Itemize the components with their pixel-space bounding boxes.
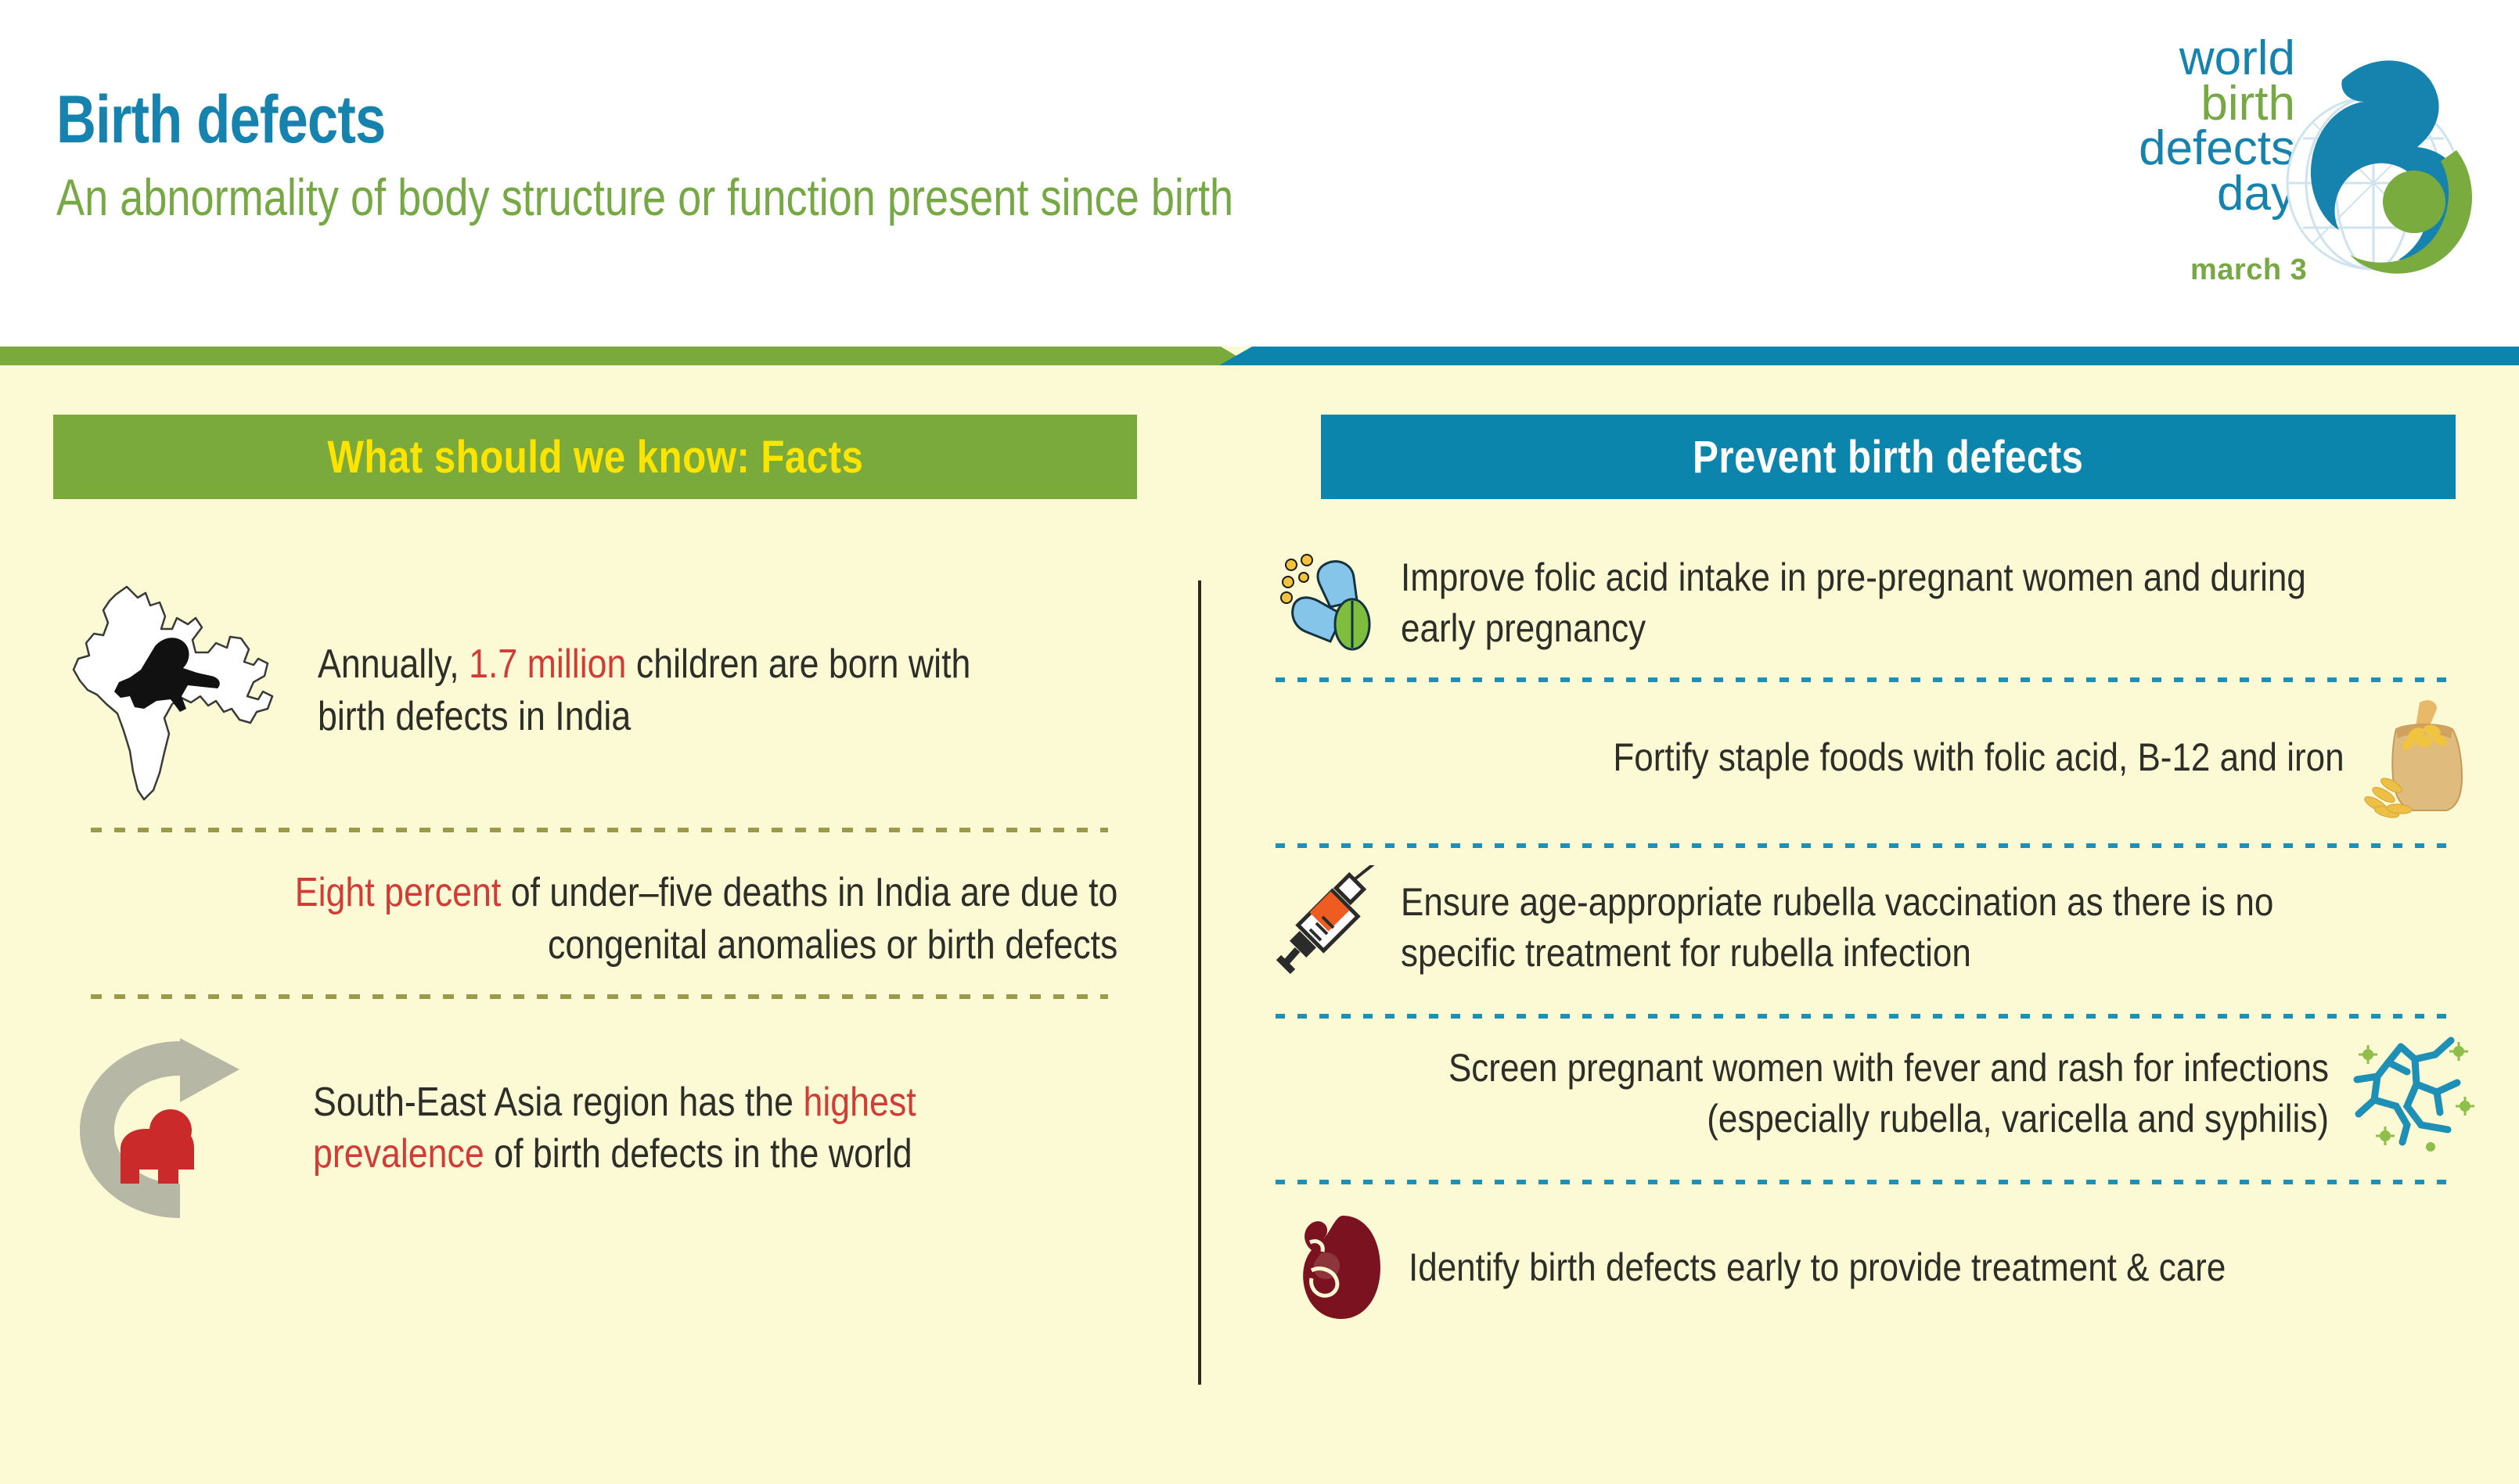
infographic-page: Birth defects An abnormality of body str…	[0, 0, 2519, 1484]
logo-globe-baby-icon	[2225, 33, 2483, 307]
prevent-column-header: Prevent birth defects	[1321, 415, 2456, 499]
fact-text-before: Annually,	[318, 641, 469, 687]
facts-column-header-label: What should we know: Facts	[327, 431, 863, 483]
fact-item: Annually, 1.7 million children are born …	[63, 571, 1158, 804]
prevent-text: Ensure age-appropriate rubella vaccinati…	[1401, 877, 2351, 979]
header-divider-bar	[0, 347, 2519, 365]
facts-column: Annually, 1.7 million children are born …	[63, 571, 1158, 1226]
title-block: Birth defects An abnormality of body str…	[56, 86, 1934, 225]
pills-capsule-icon	[1276, 552, 1385, 654]
syringe-icon	[1276, 865, 1385, 990]
india-map-baby-icon	[63, 577, 297, 804]
prevent-item: Ensure age-appropriate rubella vaccinati…	[1276, 848, 2481, 990]
prevent-text: Identify birth defects early to provide …	[1409, 1242, 2226, 1293]
fact-item: Eight percent of under–five deaths in In…	[63, 832, 1158, 971]
fact-text: South-East Asia region has the highest p…	[313, 1076, 1040, 1180]
prevent-column-header-label: Prevent birth defects	[1693, 431, 2083, 483]
virus-neuron-icon	[2340, 1031, 2481, 1156]
prevent-item: Fortify staple foods with folic acid, B-…	[1276, 682, 2481, 820]
page-header: Birth defects An abnormality of body str…	[0, 0, 2519, 347]
prevent-column: Improve folic acid intake in pre-pregnan…	[1276, 548, 2481, 1330]
fact-text: Eight percent of under–five deaths in In…	[216, 867, 1158, 971]
divider-bar-green-segment	[0, 347, 1252, 365]
prevent-item: Screen pregnant women with fever and ras…	[1174, 1019, 2481, 1156]
world-birth-defects-day-logo: world birth defects day march 3	[2053, 19, 2491, 324]
fact-text-after: of under–five deaths in India are due to…	[501, 870, 1117, 968]
page-title: Birth defects	[56, 86, 1596, 153]
fact-highlight: 1.7 million	[469, 641, 626, 687]
prevent-text: Fortify staple foods with folic acid, B-…	[1614, 732, 2344, 783]
page-subtitle: An abnormality of body structure or func…	[56, 171, 1596, 225]
prevent-item: Improve folic acid intake in pre-pregnan…	[1276, 548, 2481, 654]
fact-text-after: of birth defects in the world	[484, 1131, 912, 1177]
fact-highlight: Eight percent	[295, 870, 502, 915]
facts-column-header: What should we know: Facts	[53, 415, 1137, 499]
grain-sack-icon	[2355, 695, 2481, 820]
prevent-item: Identify birth defects early to provide …	[1276, 1184, 2481, 1330]
fact-item: South-East Asia region has the highest p…	[63, 999, 1158, 1226]
prevent-text: Screen pregnant women with fever and ras…	[1312, 1043, 2329, 1144]
divider-bar-blue-segment	[1219, 347, 2519, 365]
column-divider-line	[1198, 580, 1201, 1385]
fetus-icon	[1276, 1205, 1393, 1330]
fact-text-before: South-East Asia region has the	[313, 1080, 803, 1125]
prevent-text: Improve folic acid intake in pre-pregnan…	[1401, 552, 2351, 654]
fact-text: Annually, 1.7 million children are born …	[318, 638, 1041, 742]
circular-arrow-baby-icon	[63, 1030, 297, 1226]
